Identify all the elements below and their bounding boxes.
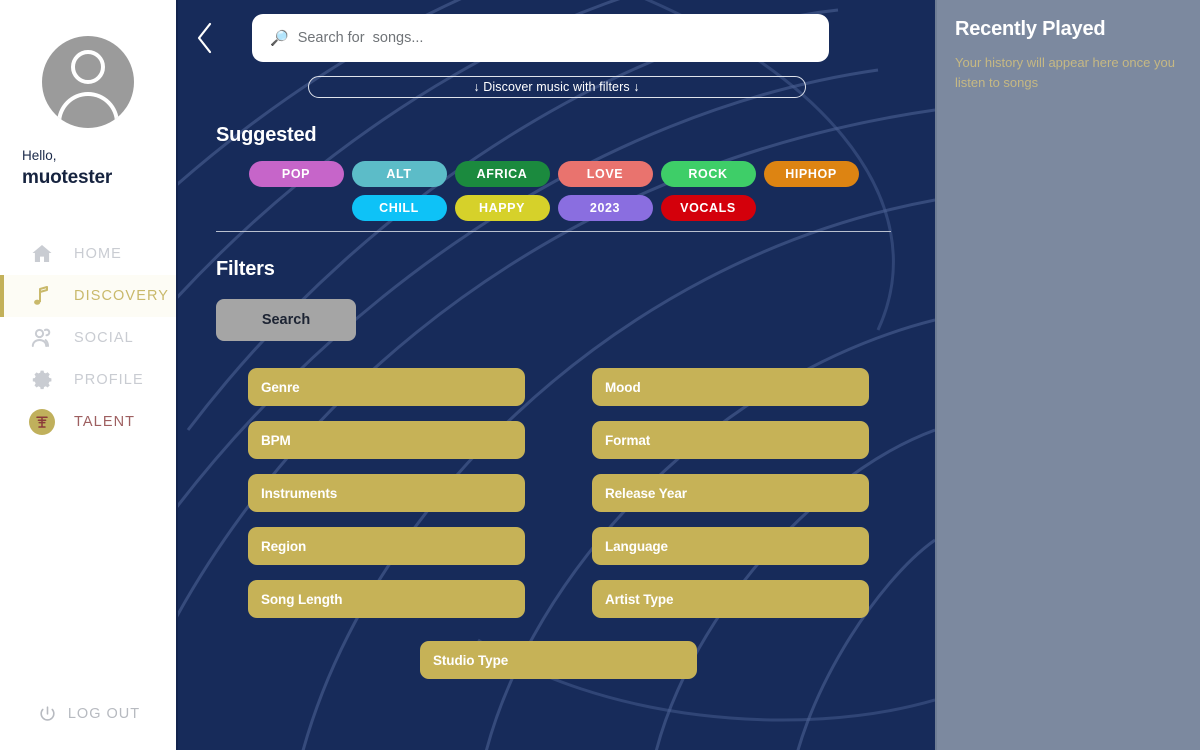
filter-artist-type[interactable]: Artist Type: [592, 580, 869, 618]
sidebar-item-social-label: SOCIAL: [74, 330, 134, 346]
filter-pill-grid: Genre Mood BPM Format Instruments Releas…: [248, 368, 891, 679]
tag-love[interactable]: LOVE: [558, 161, 653, 187]
recently-played-empty-message: Your history will appear here once you l…: [955, 53, 1178, 93]
power-icon: [36, 702, 60, 726]
filter-language[interactable]: Language: [592, 527, 869, 565]
sidebar: Hello, muotester HOME DIS: [0, 0, 178, 750]
suggested-heading: Suggested: [216, 124, 891, 147]
filter-song-length[interactable]: Song Length: [248, 580, 525, 618]
talent-badge-circle: [29, 409, 55, 435]
discover-with-filters-button[interactable]: ↓ Discover music with filters ↓: [308, 76, 806, 98]
greeting-block: Hello, muotester: [0, 146, 176, 191]
suggested-tags: POP ALT AFRICA LOVE ROCK HIPHOP CHILL HA…: [216, 161, 891, 221]
tag-happy[interactable]: HAPPY: [455, 195, 550, 221]
sidebar-item-talent-label: TALENT: [74, 414, 135, 430]
tag-vocals[interactable]: VOCALS: [661, 195, 756, 221]
tag-pop[interactable]: POP: [249, 161, 344, 187]
avatar-head-shape: [71, 50, 105, 84]
tag-chill[interactable]: CHILL: [352, 195, 447, 221]
filter-genre[interactable]: Genre: [248, 368, 525, 406]
sidebar-item-discovery[interactable]: DISCOVERY: [0, 275, 176, 317]
filter-instruments[interactable]: Instruments: [248, 474, 525, 512]
sidebar-item-discovery-label: DISCOVERY: [74, 288, 169, 304]
people-icon: [30, 326, 54, 350]
talent-badge-icon: [30, 410, 54, 434]
filters-search-button[interactable]: Search: [216, 299, 356, 341]
recently-played-title: Recently Played: [955, 18, 1178, 41]
logout-label: LOG OUT: [68, 706, 140, 722]
sidebar-nav: HOME DISCOVERY: [0, 233, 176, 443]
filter-mood[interactable]: Mood: [592, 368, 869, 406]
sidebar-item-social[interactable]: SOCIAL: [0, 317, 176, 359]
avatar-body-shape: [57, 92, 119, 128]
tag-2023[interactable]: 2023: [558, 195, 653, 221]
avatar[interactable]: [42, 36, 134, 128]
tag-alt[interactable]: ALT: [352, 161, 447, 187]
sidebar-item-profile-label: PROFILE: [74, 372, 144, 388]
greeting-hello: Hello,: [22, 146, 176, 165]
sidebar-item-home[interactable]: HOME: [0, 233, 176, 275]
content-area: Suggested POP ALT AFRICA LOVE ROCK HIPHO…: [178, 124, 935, 679]
search-input[interactable]: [298, 30, 811, 46]
filter-bpm[interactable]: BPM: [248, 421, 525, 459]
sidebar-item-talent[interactable]: TALENT: [0, 401, 176, 443]
filters-heading: Filters: [216, 258, 891, 281]
music-note-icon: [30, 284, 54, 308]
greeting-username: muotester: [22, 165, 176, 191]
suggested-tag-row-1: POP ALT AFRICA LOVE ROCK HIPHOP: [216, 161, 891, 187]
sidebar-item-profile[interactable]: PROFILE: [0, 359, 176, 401]
tag-rock[interactable]: ROCK: [661, 161, 756, 187]
search-bar[interactable]: 🔎: [252, 14, 829, 62]
top-bar: 🔎: [178, 0, 935, 62]
logout-button[interactable]: LOG OUT: [0, 702, 176, 726]
filter-format[interactable]: Format: [592, 421, 869, 459]
main-content: 🔎 ↓ Discover music with filters ↓ Sugges…: [178, 0, 935, 750]
home-icon: [30, 242, 54, 266]
tag-africa[interactable]: AFRICA: [455, 161, 550, 187]
magnifier-icon: 🔎: [270, 31, 289, 46]
tag-hiphop[interactable]: HIPHOP: [764, 161, 859, 187]
chevron-left-icon: [194, 21, 216, 55]
recently-played-panel: Recently Played Your history will appear…: [935, 0, 1200, 750]
filter-release-year[interactable]: Release Year: [592, 474, 869, 512]
back-button[interactable]: [184, 14, 226, 62]
section-divider: [216, 231, 891, 232]
suggested-tag-row-2: CHILL HAPPY 2023 VOCALS: [216, 195, 891, 221]
gear-icon: [30, 368, 54, 392]
filter-studio-type[interactable]: Studio Type: [420, 641, 697, 679]
sidebar-item-home-label: HOME: [74, 246, 122, 262]
discovery-page: Hello, muotester HOME DIS: [0, 0, 1200, 750]
filter-region[interactable]: Region: [248, 527, 525, 565]
